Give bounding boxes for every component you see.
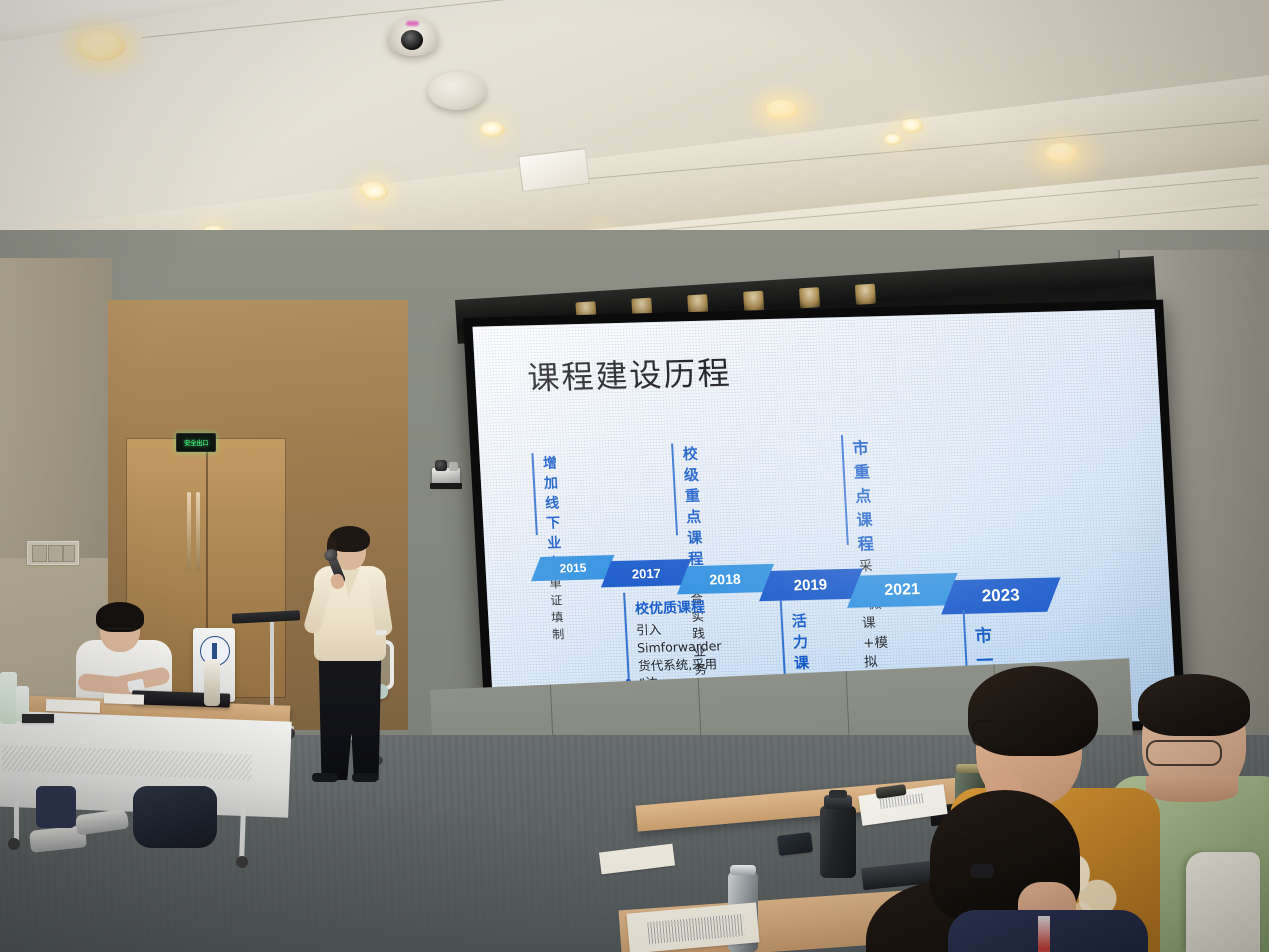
exit-sign-icon: 安全出口 bbox=[176, 433, 216, 452]
exit-sign-label: 安全出口 bbox=[184, 438, 208, 447]
node-heading: 校优质课程 bbox=[634, 596, 719, 618]
attendee-foreground-left bbox=[930, 790, 1130, 952]
downlight bbox=[77, 31, 125, 61]
room-photo: 安全出口 课程建设历程 bbox=[0, 0, 1269, 952]
timeline-year-2015[interactable]: 2015 bbox=[531, 555, 614, 581]
presenter-trousers bbox=[316, 656, 384, 780]
wristwatch bbox=[376, 630, 387, 635]
smartphone[interactable] bbox=[777, 832, 813, 856]
year-label: 2018 bbox=[709, 571, 741, 588]
downlight bbox=[901, 119, 923, 133]
attendee-chin bbox=[1146, 776, 1238, 802]
glasses-icon bbox=[1146, 740, 1222, 766]
node-line: 单证填制 bbox=[549, 575, 567, 643]
attendee-leg bbox=[36, 786, 76, 828]
presenter-shoe bbox=[312, 773, 338, 782]
water-bottle[interactable] bbox=[0, 672, 17, 724]
door-handle[interactable] bbox=[196, 492, 200, 570]
timeline-year-2023[interactable]: 2023 bbox=[941, 577, 1060, 614]
node-heading: 校级重点课程 bbox=[682, 443, 705, 569]
light-switch-plate[interactable] bbox=[26, 540, 80, 566]
downlight bbox=[480, 122, 505, 137]
presenter bbox=[300, 530, 410, 780]
dome-camera-icon bbox=[388, 18, 438, 56]
presenter-shoe bbox=[352, 773, 378, 782]
downlight bbox=[884, 134, 902, 145]
node-stem bbox=[841, 435, 849, 545]
node-heading: 市重点课程 bbox=[852, 434, 883, 554]
water-bottle[interactable] bbox=[820, 806, 856, 878]
downlight bbox=[766, 100, 798, 119]
desk-caster bbox=[236, 856, 248, 868]
glasses-icon bbox=[333, 545, 363, 553]
earbud-icon bbox=[970, 864, 994, 878]
year-label: 2019 bbox=[794, 576, 828, 594]
backpack bbox=[133, 786, 217, 848]
ceiling-speaker-icon bbox=[428, 72, 486, 110]
shirt-stripe bbox=[1038, 916, 1050, 952]
paper-sheets bbox=[46, 699, 100, 713]
desk-caster bbox=[8, 838, 20, 850]
year-label: 2021 bbox=[884, 581, 921, 600]
year-label: 2023 bbox=[981, 585, 1020, 606]
timeline-year-2019[interactable]: 2019 bbox=[759, 569, 863, 602]
ptz-camera-icon bbox=[432, 468, 460, 486]
node-stem bbox=[623, 593, 629, 679]
thermos[interactable] bbox=[204, 660, 220, 706]
node-line: 引入Simforwarder bbox=[636, 619, 722, 657]
year-label: 2015 bbox=[559, 561, 586, 576]
node-stem bbox=[671, 444, 678, 536]
attendee-hair bbox=[1138, 674, 1250, 736]
downlight bbox=[1046, 143, 1078, 163]
year-label: 2017 bbox=[631, 565, 661, 581]
glasses-icon bbox=[972, 720, 1024, 746]
node-heading: 增加线下业务 bbox=[542, 453, 562, 573]
node-stem bbox=[531, 453, 537, 535]
downlight bbox=[363, 185, 388, 200]
paper-sheets bbox=[104, 693, 144, 704]
room: 安全出口 课程建设历程 bbox=[0, 0, 1269, 952]
chair-back[interactable] bbox=[1186, 852, 1260, 952]
door-handle[interactable] bbox=[187, 492, 191, 570]
smartphone[interactable] bbox=[22, 714, 54, 723]
timeline-year-2017[interactable]: 2017 bbox=[601, 559, 691, 587]
timeline-year-2018[interactable]: 2018 bbox=[677, 564, 774, 595]
timeline-year-2021[interactable]: 2021 bbox=[847, 573, 958, 608]
glasses-icon bbox=[106, 628, 136, 636]
